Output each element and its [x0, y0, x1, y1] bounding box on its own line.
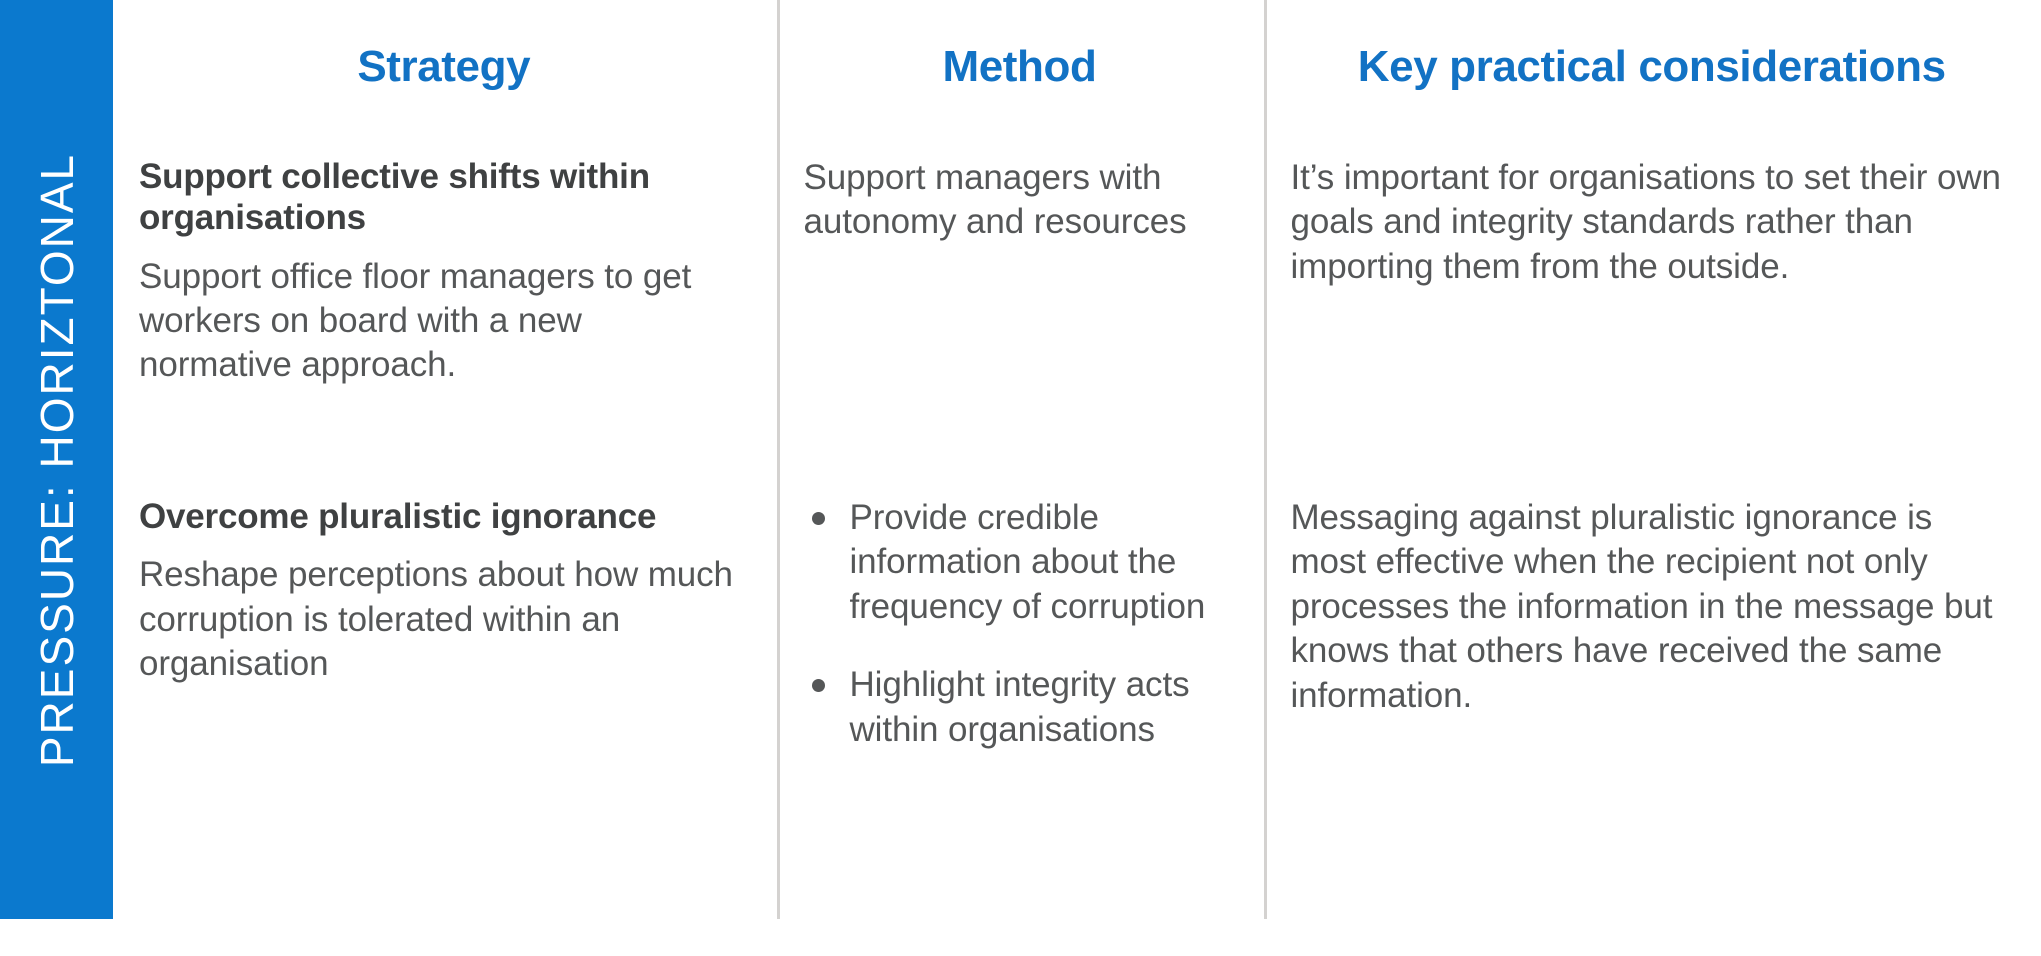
key-considerations-text: Messaging against pluralistic ignorance … [1291, 496, 2008, 718]
table-header-row: Strategy Method Key practical considerat… [115, 0, 2041, 130]
strategy-table: Strategy Method Key practical considerat… [115, 0, 2041, 919]
column-header-method: Method [778, 0, 1265, 130]
pressure-sidebar-label: PRESSURE: HORIZTONAL [34, 152, 80, 766]
page-root: PRESSURE: HORIZTONAL Strategy [0, 0, 2041, 956]
table-row: Support collective shifts within organis… [115, 130, 2041, 470]
strategy-description: Reshape perceptions about how much corru… [139, 553, 743, 686]
strategy-title: Support collective shifts within organis… [139, 156, 743, 239]
cell-key-considerations: It’s important for organisations to set … [1265, 130, 2041, 470]
cell-strategy: Overcome pluralistic ignorance Reshape p… [115, 470, 778, 919]
list-item: Provide credible information about the f… [804, 496, 1236, 629]
key-considerations-text: It’s important for organisations to set … [1291, 156, 2008, 289]
column-header-strategy: Strategy [115, 0, 778, 130]
column-header-method-label: Method [804, 44, 1236, 90]
method-bullet-list: Provide credible information about the f… [804, 496, 1236, 752]
column-header-key-considerations: Key practical considerations [1265, 0, 2041, 130]
bullet-dot-icon [812, 512, 825, 525]
strategy-description: Support office floor managers to get wor… [139, 255, 743, 388]
strategy-table-wrapper: Strategy Method Key practical considerat… [115, 0, 2041, 922]
list-item: Highlight integrity acts within organisa… [804, 663, 1236, 752]
pressure-sidebar: PRESSURE: HORIZTONAL [0, 0, 113, 919]
column-header-key-considerations-label: Key practical considerations [1291, 44, 2014, 90]
table-row: Overcome pluralistic ignorance Reshape p… [115, 470, 2041, 919]
cell-method: Support managers with autonomy and resou… [778, 130, 1265, 470]
list-item-label: Highlight integrity acts within organisa… [850, 665, 1190, 748]
method-text: Support managers with autonomy and resou… [804, 156, 1236, 245]
cell-strategy: Support collective shifts within organis… [115, 130, 778, 470]
strategy-title: Overcome pluralistic ignorance [139, 496, 743, 537]
list-item-label: Provide credible information about the f… [850, 498, 1206, 626]
cell-key-considerations: Messaging against pluralistic ignorance … [1265, 470, 2041, 919]
column-header-strategy-label: Strategy [139, 44, 749, 90]
bullet-dot-icon [812, 679, 825, 692]
cell-method: Provide credible information about the f… [778, 470, 1265, 919]
